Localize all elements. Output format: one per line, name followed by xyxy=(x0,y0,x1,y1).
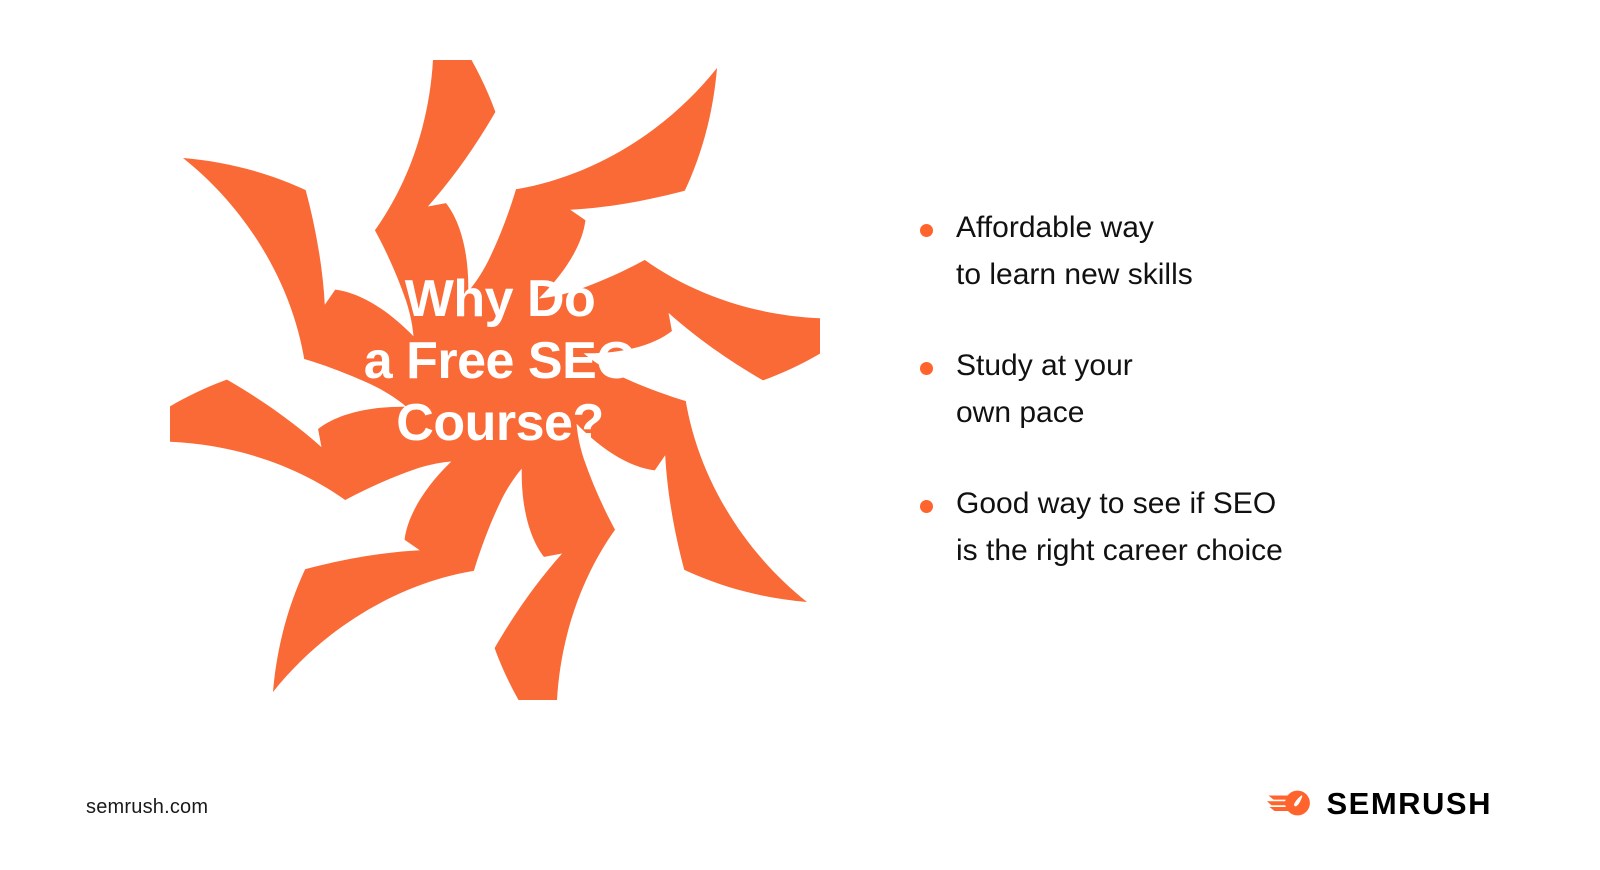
benefit-item: Study at your own pace xyxy=(912,342,1432,436)
site-url-label: semrush.com xyxy=(86,796,208,819)
infographic-canvas: Why Do a Free SEO Course? Affordable way… xyxy=(0,0,1600,870)
benefit-line: Affordable way xyxy=(956,204,1432,251)
swirl-blades xyxy=(170,60,820,700)
benefit-line: Study at your xyxy=(956,342,1432,389)
swirl-svg xyxy=(170,60,820,700)
benefit-line: to learn new skills xyxy=(956,251,1432,298)
bullet-dot-icon xyxy=(920,224,933,237)
semrush-comet-icon xyxy=(1267,786,1313,820)
benefit-line: own pace xyxy=(956,389,1432,436)
bullet-dot-icon xyxy=(920,362,933,375)
benefit-item: Affordable way to learn new skills xyxy=(912,204,1432,298)
semrush-logo: SEMRUSH xyxy=(1267,786,1492,820)
benefits-list: Affordable way to learn new skills Study… xyxy=(912,204,1432,574)
orange-swirl-graphic xyxy=(170,60,820,700)
benefit-line: Good way to see if SEO xyxy=(956,480,1432,527)
bullet-dot-icon xyxy=(920,500,933,513)
benefit-line: is the right career choice xyxy=(956,527,1432,574)
semrush-wordmark: SEMRUSH xyxy=(1326,788,1492,819)
benefit-item: Good way to see if SEO is the right care… xyxy=(912,480,1432,574)
